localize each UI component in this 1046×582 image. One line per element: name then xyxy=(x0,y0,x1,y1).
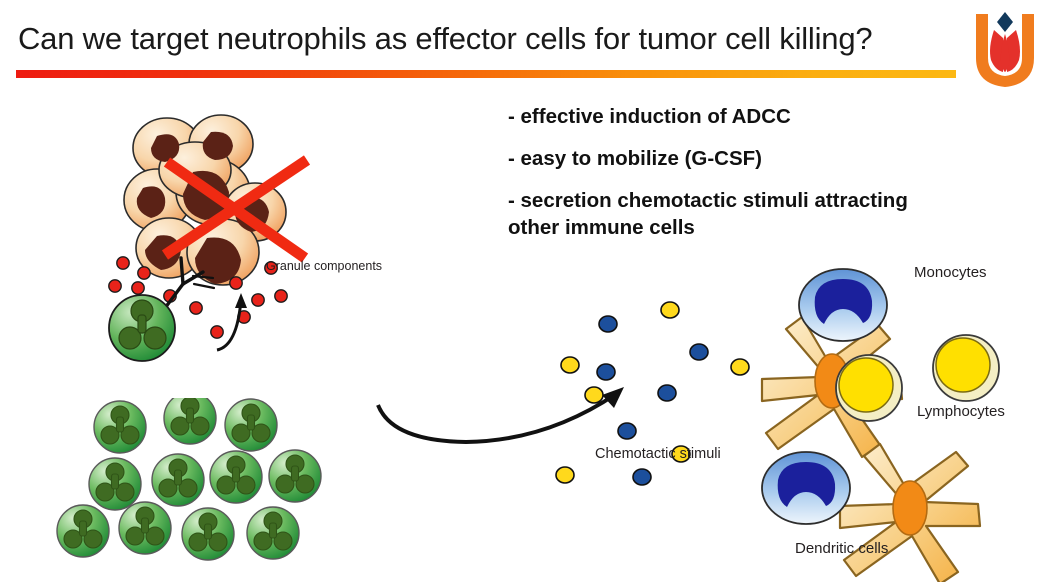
neutrophil-pool xyxy=(55,398,345,573)
bullet-item: - secretion chemotactic stimuli attracti… xyxy=(508,188,1028,240)
page-title: Can we target neutrophils as effector ce… xyxy=(18,21,958,57)
tumor-cell-cluster xyxy=(124,115,286,285)
granule-components-label: Granule components xyxy=(266,259,382,273)
bullet-item: - easy to mobilize (G-CSF) xyxy=(508,146,1028,172)
bullet-item: - effective induction of ADCC xyxy=(508,104,1028,130)
slide-canvas: Can we target neutrophils as effector ce… xyxy=(0,0,1046,582)
effector-neutrophil xyxy=(109,295,175,361)
adcc-tumor-killing-diagram xyxy=(95,100,405,365)
lymphocytes-label: Lymphocytes xyxy=(917,403,1005,420)
bullet-list: - effective induction of ADCC - easy to … xyxy=(508,104,1028,257)
dendritic-cells-label: Dendritic cells xyxy=(795,540,888,557)
tulip-university-logo xyxy=(972,8,1038,90)
chemotactic-stimuli-label: Chemotactic stimuli xyxy=(595,446,721,462)
neutrophil-cell xyxy=(57,398,321,560)
monocytes-label: Monocytes xyxy=(914,264,987,281)
title-accent-rule xyxy=(16,70,956,78)
